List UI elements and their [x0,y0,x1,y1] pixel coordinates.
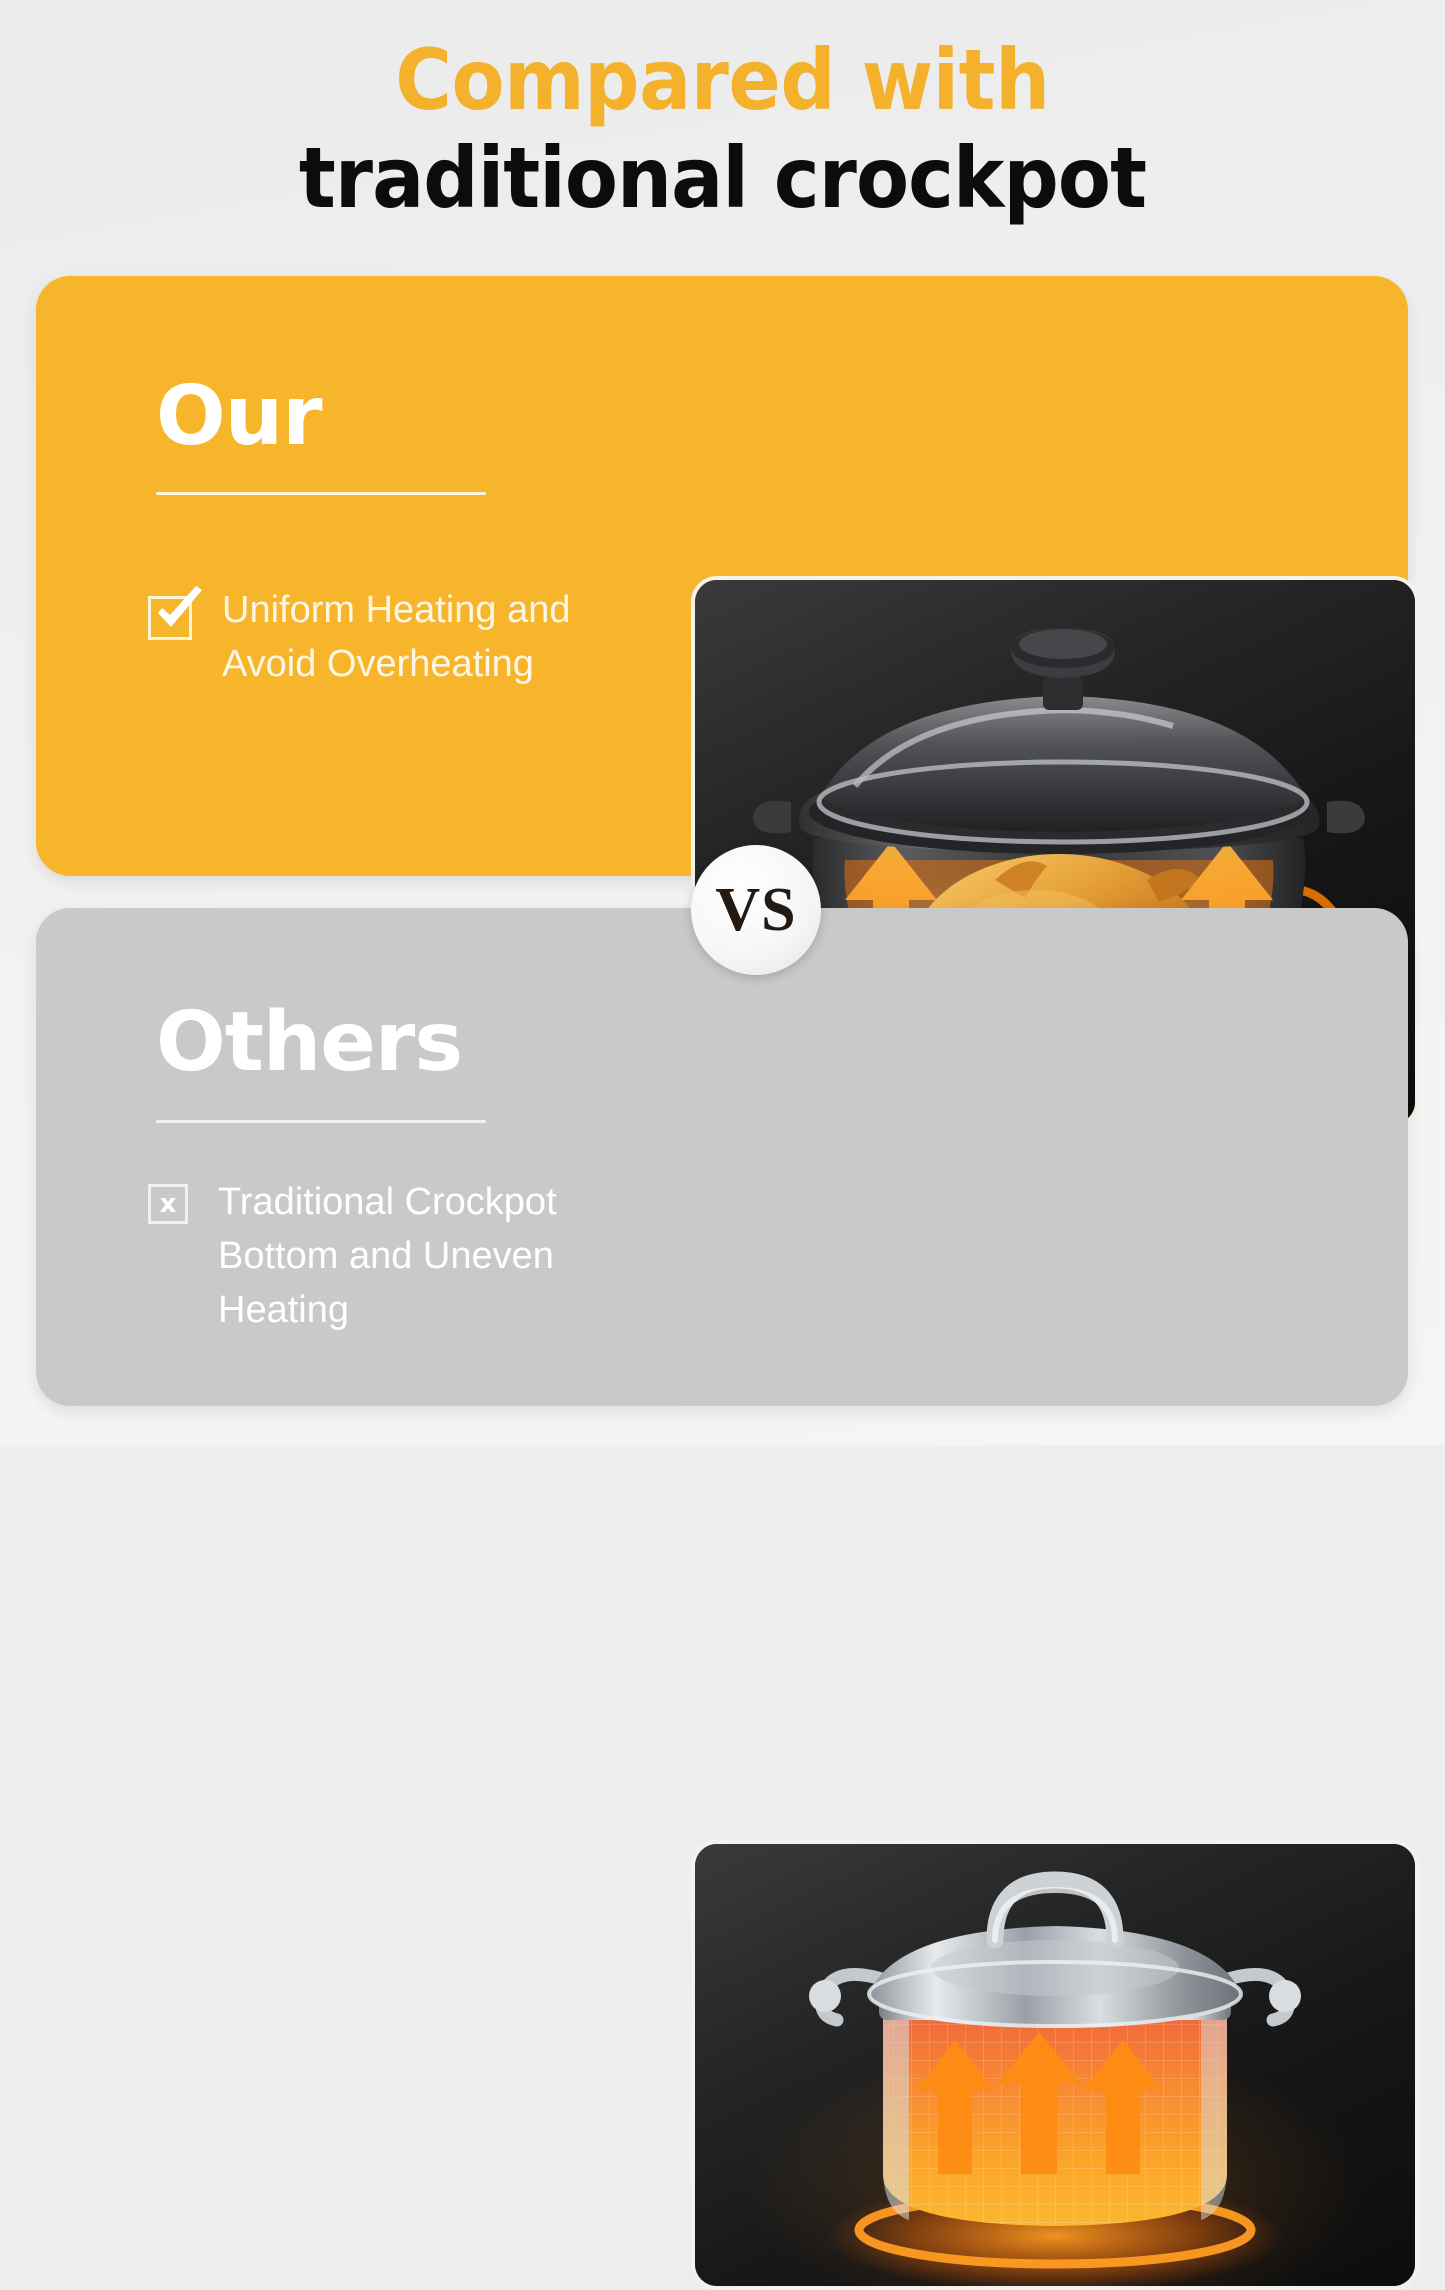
check-icon [148,592,196,640]
others-product-photo [691,1840,1419,2290]
others-comparison-panel: Others x Traditional Crockpot Bottom and… [36,908,1408,1406]
others-feature-item: x Traditional Crockpot Bottom and Uneven… [148,1176,638,1338]
our-comparison-panel: Our Uniform Heating and Avoid Overheatin… [36,276,1408,876]
our-feature-item: Uniform Heating and Avoid Overheating [148,584,640,692]
others-panel-title: Others [156,1002,462,1084]
page-title-line-2: traditional crockpot [58,136,1387,222]
page-title-line-1: Compared with [58,38,1387,124]
stockpot-illustration [695,1844,1419,2290]
our-panel-divider [156,492,486,495]
x-icon: x [148,1184,192,1228]
vs-badge: VS [691,845,821,975]
vs-label: VS [715,879,796,941]
page-title: Compared with traditional crockpot [0,38,1445,221]
others-panel-divider [156,1120,486,1123]
infographic-canvas: Compared with traditional crockpot Our U… [0,0,1445,1445]
our-panel-text-column: Our Uniform Heating and Avoid Overheatin… [140,276,640,876]
our-feature-label: Uniform Heating and Avoid Overheating [222,584,640,692]
others-feature-label: Traditional Crockpot Bottom and Uneven H… [218,1176,638,1338]
our-panel-title: Our [156,376,322,458]
others-panel-text-column: Others x Traditional Crockpot Bottom and… [140,908,640,1406]
